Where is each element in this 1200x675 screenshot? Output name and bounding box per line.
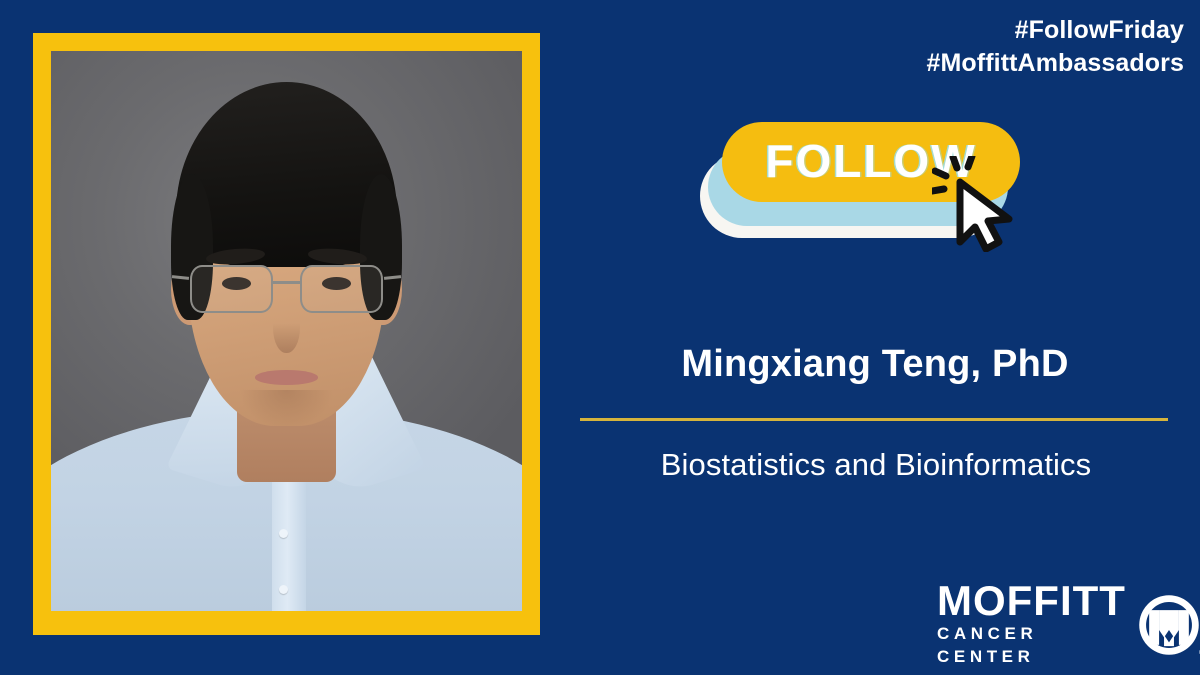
hashtag-block: #FollowFriday #MoffittAmbassadors — [927, 14, 1185, 80]
hashtag-moffittambassadors: #MoffittAmbassadors — [927, 47, 1185, 80]
hashtag-followfriday: #FollowFriday — [927, 14, 1185, 47]
lens-right — [300, 265, 383, 313]
page-title: Mingxiang Teng, PhD — [580, 343, 1170, 386]
arrow-cursor-click-icon — [932, 156, 1028, 252]
moffitt-circular-m-icon: ® — [1138, 594, 1200, 656]
shirt-placket — [272, 465, 306, 611]
glasses-bridge — [273, 281, 300, 284]
gold-divider — [580, 418, 1168, 421]
department-label: Biostatistics and Bioinformatics — [570, 447, 1182, 483]
moffitt-logo: MOFFITT CANCER CENTER ® — [937, 581, 1200, 669]
mouth — [255, 370, 318, 385]
portrait-frame — [33, 33, 540, 635]
follow-button[interactable]: FOLLOW — [700, 118, 1030, 244]
moffitt-logo-text: MOFFITT CANCER CENTER — [937, 581, 1126, 669]
nose — [273, 303, 299, 353]
chin-shadow — [239, 390, 333, 429]
lens-left — [190, 265, 273, 313]
moffitt-wordmark: MOFFITT — [937, 581, 1126, 621]
portrait-photo — [51, 51, 522, 611]
moffitt-tagline: CANCER CENTER — [937, 623, 1126, 669]
